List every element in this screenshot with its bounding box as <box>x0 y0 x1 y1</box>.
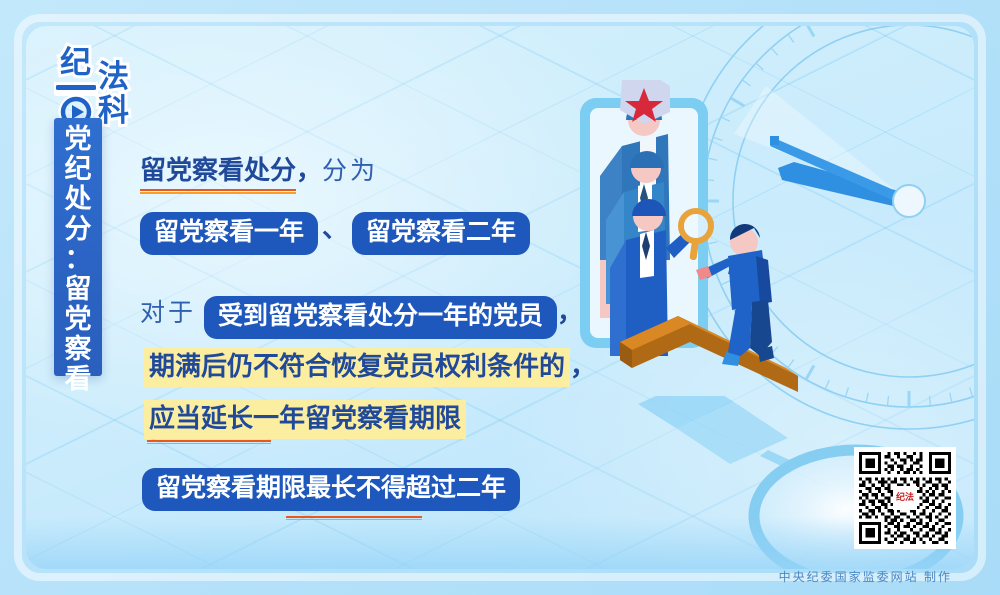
line1-rest: 分为 <box>322 158 378 185</box>
vbanner-char-0: 党 <box>65 124 92 154</box>
logo-char-fa: 法 <box>98 62 129 93</box>
footer-credit: 中央纪委国家监委网站 制作 <box>779 568 952 585</box>
vbanner-char-7: 察 <box>65 334 92 364</box>
line3-suffix: ， <box>557 298 583 327</box>
qr-code[interactable]: 纪法 <box>854 447 956 549</box>
qr-center-logo: 纪法 <box>893 486 917 510</box>
text-line-2: 留党察看一年、留党察看二年 <box>140 208 530 255</box>
badge-one-year-member: 受到留党察看处分一年的党员 <box>204 296 557 339</box>
bottom-fade-band <box>26 517 974 569</box>
line1-underlined-phrase: 留党察看处分 <box>140 150 296 187</box>
text-line-6: 留党察看期限最长不得超过二年 <box>142 468 520 511</box>
text-line-1: 留党察看处分，分为 <box>140 150 378 187</box>
vbanner-char-3: 分 <box>65 214 92 244</box>
logo-char-ji: 纪 <box>60 48 91 79</box>
badge-max-two-years-wrap: 留党察看期限最长不得超过二年 <box>142 468 520 511</box>
vbanner-char-8: 看 <box>65 364 92 394</box>
vbanner-char-1: 纪 <box>65 154 92 184</box>
line3-prefix: 对于 <box>140 300 196 327</box>
infographic-poster: 纪 法 科 党 纪 处 分 ： 留 党 察 看 <box>0 0 1000 595</box>
vbanner-char-2: 处 <box>65 184 92 214</box>
logo-char-ke: 科 <box>98 96 129 127</box>
highlight-not-qualified: 期满后仍不符合恢复党员权利条件的 <box>144 348 570 387</box>
badge-max-two-years: 留党察看期限最长不得超过二年 <box>142 468 520 511</box>
badge-liudang-two-year: 留党察看二年 <box>352 212 530 255</box>
vbanner-char-4: ： <box>65 244 92 274</box>
text-line-4: 期满后仍不符合恢复党员权利条件的， <box>144 346 596 387</box>
badge-liudang-one-year: 留党察看一年 <box>140 212 318 255</box>
text-line-5: 应当延长一年留党察看期限 <box>144 400 466 439</box>
line2-separator: 、 <box>322 214 348 243</box>
vbanner-char-6: 党 <box>65 304 92 334</box>
text-line-3: 对于受到留党察看处分一年的党员， <box>140 292 583 339</box>
isometric-inspection-illustration <box>560 80 860 480</box>
vbanner-char-5: 留 <box>65 274 92 304</box>
vertical-title-banner: 党 纪 处 分 ： 留 党 察 看 <box>54 118 102 376</box>
highlight-extend-one-year: 应当延长一年留党察看期限 <box>144 400 466 439</box>
line1-comma: ， <box>296 156 322 185</box>
line4-suffix: ， <box>570 352 596 381</box>
